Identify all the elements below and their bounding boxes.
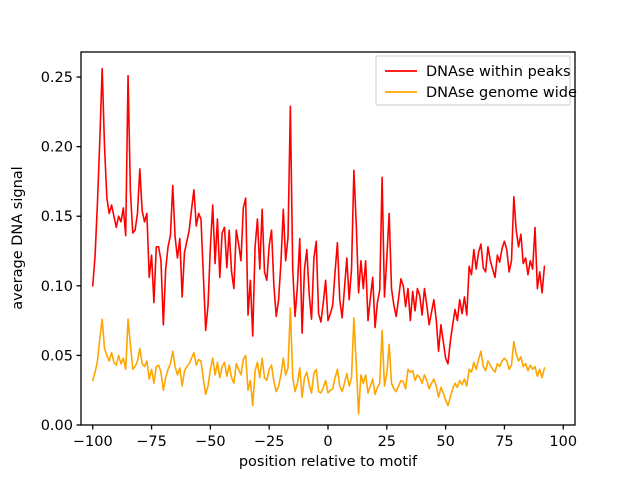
x-axis-label: position relative to motif	[239, 454, 418, 470]
x-tick-label: 100	[549, 434, 577, 450]
y-tick-label: 0.25	[41, 70, 73, 86]
y-tick-label: 0.20	[41, 140, 73, 156]
x-tick-label: 50	[436, 434, 454, 450]
chart-svg: −100−75−50−250255075100 0.000.050.100.15…	[0, 0, 640, 480]
chart-legend[interactable]: DNAse within peaksDNAse genome wide	[376, 56, 577, 105]
x-tick-label: 0	[323, 434, 332, 450]
figure-canvas: −100−75−50−250255075100 0.000.050.100.15…	[0, 0, 640, 480]
y-axis-label: average DNA signal	[10, 166, 26, 309]
y-tick-label: 0.10	[41, 279, 73, 295]
x-tick-label: −100	[73, 434, 113, 450]
legend-label-0[interactable]: DNAse within peaks	[426, 64, 571, 80]
y-tick-label: 0.05	[41, 348, 73, 364]
x-tick-label: −75	[136, 434, 167, 450]
y-tick-label: 0.15	[41, 209, 73, 225]
x-tick-label: 75	[495, 434, 513, 450]
x-tick-label: −25	[254, 434, 285, 450]
legend-label-1[interactable]: DNAse genome wide	[426, 85, 577, 101]
x-tick-label: −50	[195, 434, 226, 450]
y-tick-label: 0.00	[41, 418, 73, 434]
x-tick-label: 25	[378, 434, 396, 450]
